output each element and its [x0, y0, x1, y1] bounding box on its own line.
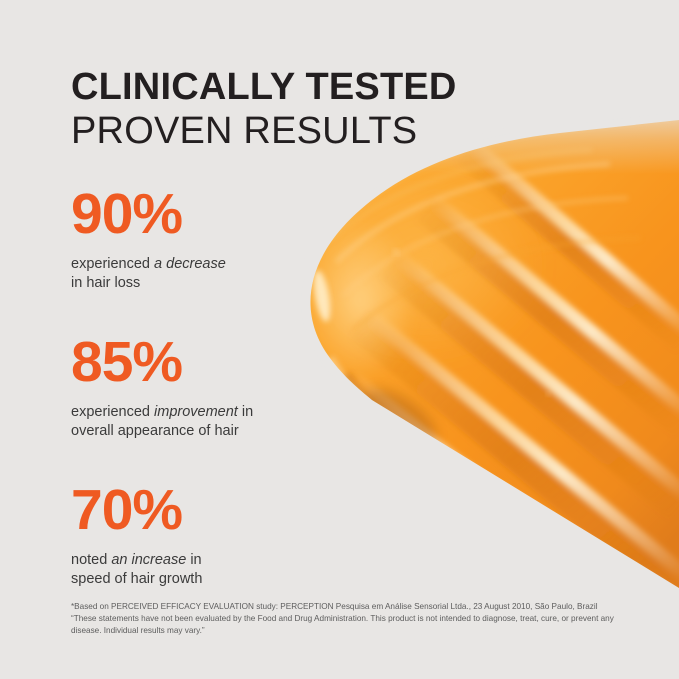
stat-desc-lead: noted: [71, 552, 111, 568]
stat-appearance: 85% experienced improvement in overall a…: [71, 334, 316, 441]
stat-value-70: 70%: [71, 482, 316, 539]
stat-desc-tail: in: [238, 404, 253, 420]
gel-body-group: [280, 100, 679, 664]
stat-value-85: 85%: [71, 334, 316, 391]
stat-desc-emphasis: an increase: [111, 552, 186, 568]
gel-edge-feather: [301, 112, 679, 598]
stat-desc-line2: in hair loss: [71, 275, 140, 291]
gel-ridges: [332, 140, 679, 664]
stat-description: experienced improvement in overall appea…: [71, 403, 316, 441]
stat-description: experienced a decrease in hair loss: [71, 255, 316, 293]
stat-desc-tail: in: [186, 552, 201, 568]
headline-line-2: PROVEN RESULTS: [71, 112, 457, 150]
stat-desc-line2: overall appearance of hair: [71, 423, 239, 439]
stat-hair-loss: 90% experienced a decrease in hair loss: [71, 186, 316, 293]
stat-desc-emphasis: a decrease: [154, 256, 226, 272]
fineprint-study-source: *Based on PERCEIVED EFFICACY EVALUATION …: [71, 601, 631, 612]
stat-description: noted an increase in speed of hair growt…: [71, 551, 316, 589]
stat-desc-emphasis: improvement: [154, 404, 238, 420]
claims-list: 90% experienced a decrease in hair loss …: [71, 186, 316, 589]
fineprint-fda-disclaimer: “These statements have not been evaluate…: [71, 613, 616, 636]
stat-desc-lead: experienced: [71, 404, 154, 420]
headline-line-1: CLINICALLY TESTED: [71, 68, 457, 106]
stat-value-90: 90%: [71, 186, 316, 243]
stat-growth-speed: 70% noted an increase in speed of hair g…: [71, 482, 316, 589]
fineprint: *Based on PERCEIVED EFFICACY EVALUATION …: [71, 601, 631, 636]
gel-striations: [330, 150, 640, 330]
stat-desc-line2: speed of hair growth: [71, 571, 202, 587]
page-title: CLINICALLY TESTED PROVEN RESULTS: [71, 68, 457, 150]
product-claims-poster: CLINICALLY TESTED PROVEN RESULTS 90% exp…: [0, 0, 679, 679]
stat-desc-lead: experienced: [71, 256, 154, 272]
